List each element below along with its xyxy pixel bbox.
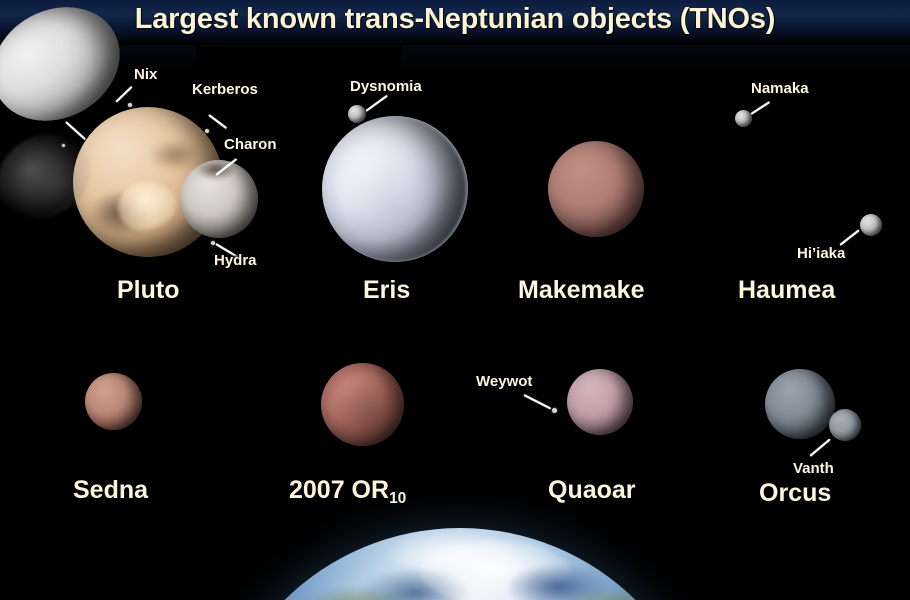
- kerberos-leader-line: [209, 114, 228, 129]
- page-title: Largest known trans-Neptunian objects (T…: [0, 3, 910, 36]
- dysnomia-leader-line: [366, 95, 388, 112]
- hiiaka-moon: [860, 214, 882, 236]
- charon-label: Charon: [224, 136, 277, 153]
- nix-label: Nix: [134, 66, 157, 83]
- header-dark-rectangle: [196, 46, 401, 66]
- nix-moon: [128, 103, 132, 107]
- hiiaka-label: Hi’iaka: [797, 245, 845, 262]
- eris-limb-highlight: [322, 116, 468, 262]
- or10-label-subscript: 10: [389, 490, 406, 507]
- or10-label: 2007 OR10: [289, 476, 406, 505]
- sedna-label: Sedna: [73, 476, 148, 505]
- or10-body: [321, 363, 404, 446]
- kerberos-label: Kerberos: [192, 81, 258, 98]
- orcus-body: [765, 369, 835, 439]
- tno-size-comparison-diagram: Largest known trans-Neptunian objects (T…: [0, 0, 910, 600]
- hiiaka-leader-line: [840, 229, 860, 245]
- vanth-moon: [829, 409, 861, 441]
- quaoar-body: [567, 369, 633, 435]
- quaoar-label: Quaoar: [548, 476, 636, 505]
- hydra-moon: [211, 241, 215, 245]
- pluto-label: Pluto: [117, 276, 180, 305]
- makemake-body: [548, 141, 644, 237]
- dysnomia-label: Dysnomia: [350, 78, 422, 95]
- namaka-label: Namaka: [751, 80, 809, 97]
- namaka-moon: [735, 110, 752, 127]
- dysnomia-moon: [348, 105, 366, 123]
- eris-label: Eris: [363, 276, 410, 305]
- haumea-label: Haumea: [738, 276, 835, 305]
- or10-label-base: 2007 OR: [289, 476, 389, 504]
- earth-mask-left: [0, 528, 212, 600]
- nix-leader-line: [116, 86, 133, 102]
- namaka-leader-line: [751, 101, 770, 114]
- vanth-leader-line: [809, 438, 830, 456]
- vanth-label: Vanth: [793, 460, 834, 477]
- kerberos-moon: [205, 129, 209, 133]
- makemake-label: Makemake: [518, 276, 644, 305]
- weywot-leader-line: [524, 394, 551, 409]
- hydra-label: Hydra: [214, 252, 257, 269]
- weywot-moon: [552, 408, 557, 413]
- weywot-label: Weywot: [476, 373, 532, 390]
- orcus-label: Orcus: [759, 479, 831, 508]
- sedna-body: [85, 373, 142, 430]
- earth-mask-right: [708, 528, 910, 600]
